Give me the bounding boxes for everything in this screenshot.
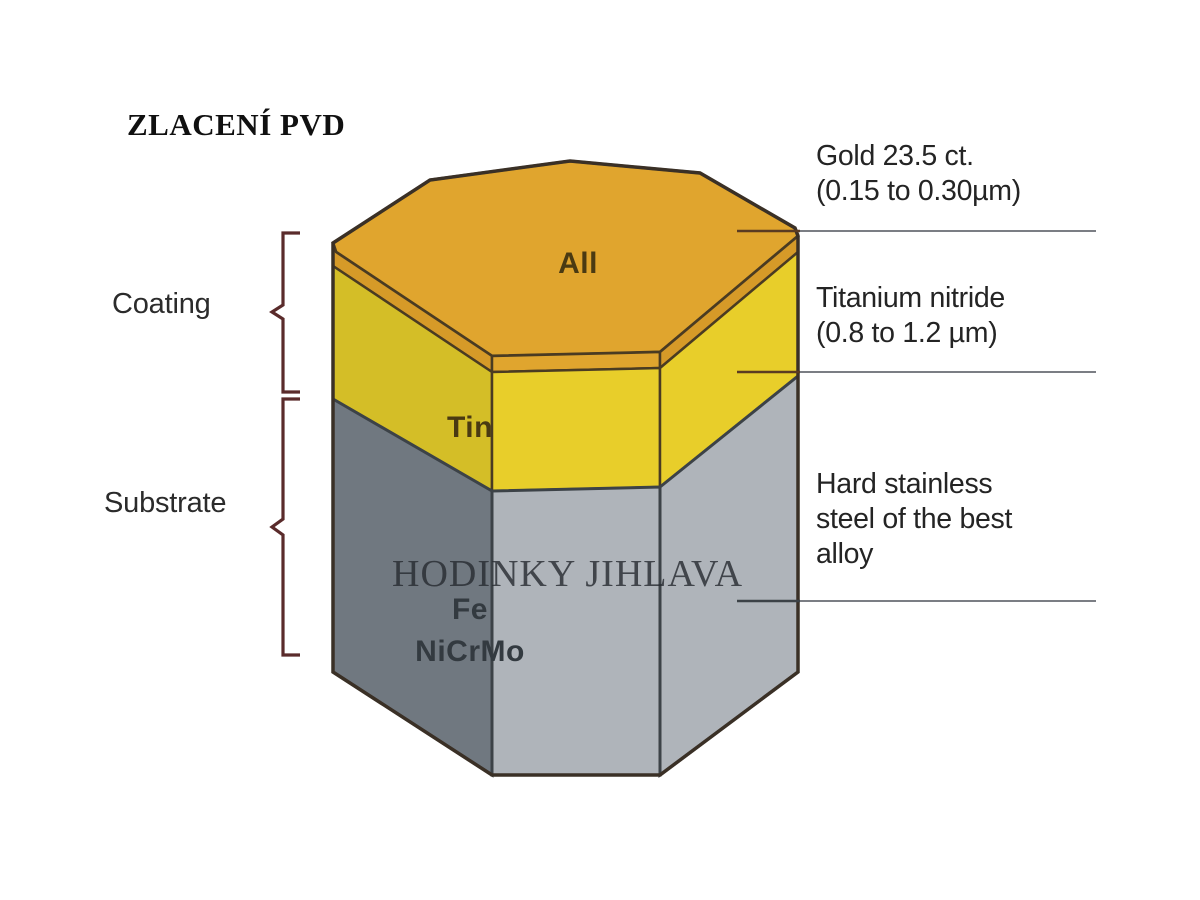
callout-tin-line2: (0.8 to 1.2 µm) xyxy=(816,316,1005,351)
callout-steel-line3: alloy xyxy=(816,537,1012,572)
callout-gold-line2: (0.15 to 0.30µm) xyxy=(816,174,1021,209)
layer-caption-substrate-line1: Fe xyxy=(0,589,1070,631)
callout-steel-line2: steel of the best xyxy=(816,502,1012,537)
prism-illustration xyxy=(0,0,1200,900)
layer-caption-substrate: Fe NiCrMo xyxy=(0,589,1070,673)
callout-tin-line1: Titanium nitride xyxy=(816,281,1005,316)
layer-caption-tin: Tin xyxy=(0,411,1070,445)
layer-caption-gold: All xyxy=(0,247,1178,281)
callout-steel-line1: Hard stainless xyxy=(816,467,1012,502)
pvd-coating-diagram: ZLACENÍ PVD xyxy=(0,0,1200,900)
callout-gold: Gold 23.5 ct. (0.15 to 0.30µm) xyxy=(816,139,1021,209)
callout-gold-line1: Gold 23.5 ct. xyxy=(816,139,1021,174)
bracket-label-coating: Coating xyxy=(112,288,211,321)
callout-stainless-steel: Hard stainless steel of the best alloy xyxy=(816,467,1012,572)
layer-caption-substrate-line2: NiCrMo xyxy=(0,631,1070,673)
callout-titanium-nitride: Titanium nitride (0.8 to 1.2 µm) xyxy=(816,281,1005,351)
bracket-label-substrate: Substrate xyxy=(104,487,226,520)
